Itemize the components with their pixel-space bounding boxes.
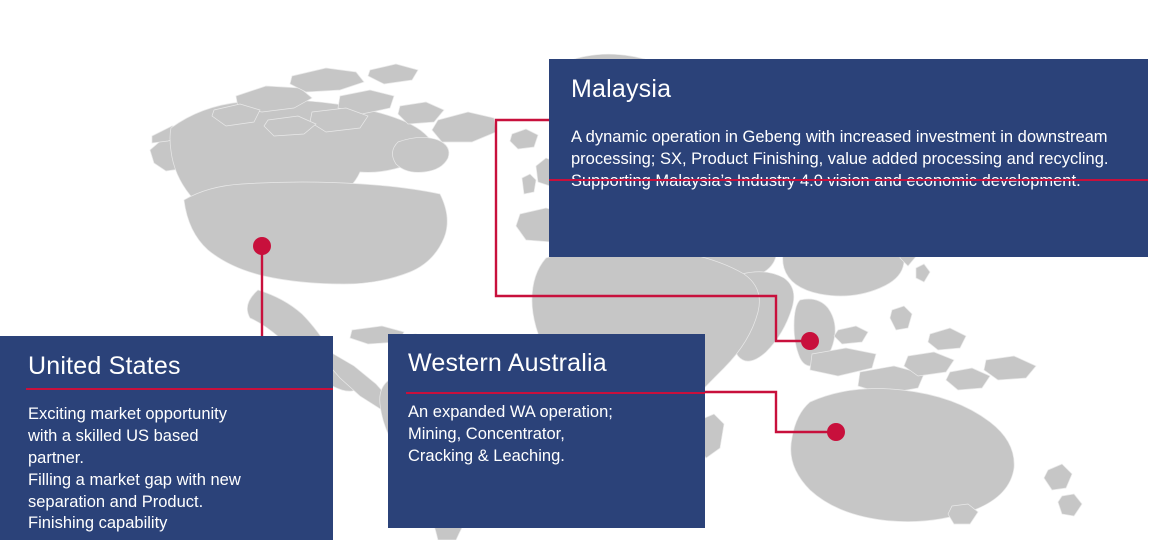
card-malaysia-title: Malaysia — [571, 75, 1148, 104]
card-united-states-title: United States — [28, 352, 333, 381]
slide-canvas: Malaysia A dynamic operation in Gebeng w… — [0, 0, 1163, 540]
marker-malaysia[interactable] — [801, 332, 819, 350]
card-malaysia[interactable]: Malaysia A dynamic operation in Gebeng w… — [549, 59, 1148, 257]
card-united-states-body: Exciting market opportunity with a skill… — [28, 404, 313, 536]
card-western-australia-rule — [406, 392, 705, 394]
card-western-australia-title: Western Australia — [408, 349, 705, 378]
card-western-australia-body: An expanded WA operation; Mining, Concen… — [408, 402, 685, 468]
card-malaysia-body: A dynamic operation in Gebeng with incre… — [571, 127, 1126, 193]
card-malaysia-rule — [549, 179, 1148, 181]
marker-western-australia[interactable] — [827, 423, 845, 441]
marker-united-states[interactable] — [253, 237, 271, 255]
card-western-australia[interactable]: Western Australia An expanded WA operati… — [388, 334, 705, 528]
card-united-states-rule — [26, 388, 333, 390]
card-united-states[interactable]: United States Exciting market opportunit… — [0, 336, 333, 540]
